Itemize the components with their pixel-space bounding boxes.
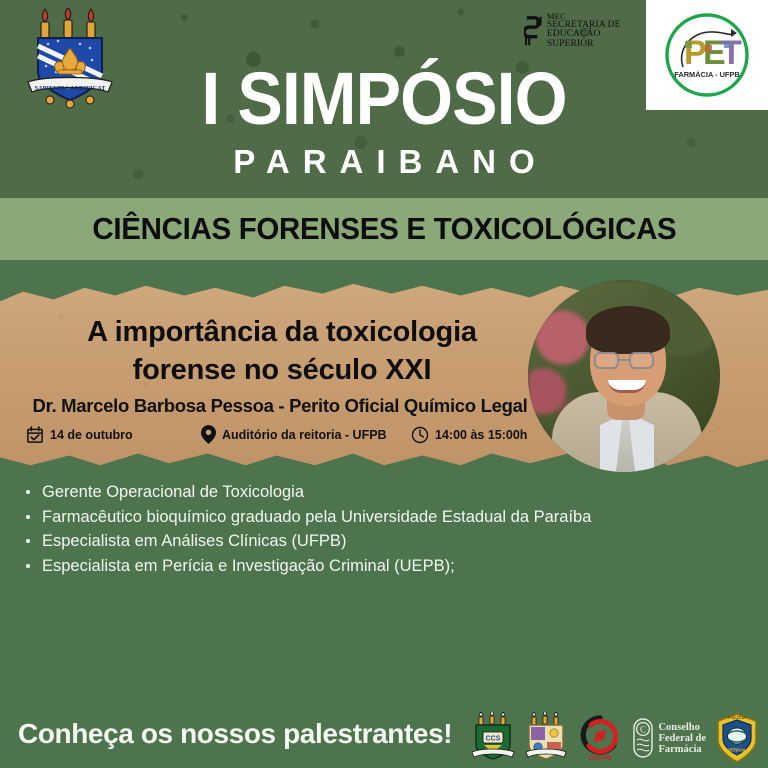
cff-line-2: Federal de — [658, 733, 706, 744]
ccs-label: CCS — [486, 735, 501, 742]
speaker-hair — [586, 306, 670, 354]
event-poster: SAPIENTIA AEDIFICAT MEC SECRETARIA DE ED… — [0, 0, 768, 768]
speaker-photo — [528, 280, 720, 472]
speaker-glasses-left — [594, 352, 619, 369]
event-meta-row: 14 de outubro Auditório da reitoria - UF… — [26, 425, 566, 444]
ufpb-shield-icon — [524, 712, 568, 764]
footer-logo-strip: CCS — [470, 712, 760, 764]
list-item: Especialista em Perícia e Investigação C… — [18, 554, 718, 579]
crf-pb-logo-icon: CRF-PB — [576, 712, 624, 764]
event-date-label: 14 de outubro — [50, 428, 133, 442]
event-place-label: Auditório da reitoria - UFPB — [222, 428, 387, 442]
speaker-name: Dr. Marcelo Barbosa Pessoa - Perito Ofic… — [10, 395, 550, 417]
cff-emblem-icon: C — [632, 716, 654, 760]
cff-logo: C Conselho Federal de Farmácia — [632, 716, 706, 760]
theme-band: CIÊNCIAS FORENSES E TOXICOLÓGICAS — [0, 198, 768, 260]
svg-text:C: C — [640, 724, 646, 734]
mec-logo: MEC SECRETARIA DE EDUCAÇÃO SUPERIOR — [524, 12, 644, 54]
talk-title-line-2: forense no século XXI — [133, 354, 432, 386]
map-pin-icon — [201, 425, 216, 444]
badge-label: PERÍCIA — [728, 748, 747, 753]
event-time-label: 14:00 às 15:00h — [435, 428, 527, 442]
event-place: Auditório da reitoria - UFPB — [201, 425, 411, 444]
cff-line-3: Farmácia — [658, 744, 706, 755]
cff-line-1: Conselho — [658, 722, 706, 733]
speaker-glasses-right — [629, 352, 654, 369]
policia-cientifica-badge-icon: POLÍCIA PERÍCIA — [714, 712, 760, 764]
svg-text:POLÍCIA: POLÍCIA — [728, 713, 747, 720]
page-title-main: I SIMPÓSIO — [31, 62, 738, 136]
speaker-credentials-list: Gerente Operacional de Toxicologia Farma… — [18, 480, 718, 578]
mec-symbol-icon — [524, 14, 543, 48]
calendar-check-icon — [26, 426, 44, 444]
list-item: Especialista em Análises Clínicas (UFPB) — [18, 529, 718, 554]
talk-title-line-1: A importância da toxicologia — [87, 316, 477, 348]
footer-call-to-action: Conheça os nossos palestrantes! — [18, 718, 452, 750]
list-item: Farmacêutico bioquímico graduado pela Un… — [18, 505, 718, 530]
ccs-ufpb-shield-icon: CCS — [470, 712, 516, 764]
mec-line-3: EDUCAÇÃO SUPERIOR — [547, 30, 644, 49]
theme-band-text: CIÊNCIAS FORENSES E TOXICOLÓGICAS — [92, 211, 676, 247]
list-item: Gerente Operacional de Toxicologia — [18, 480, 718, 505]
event-date: 14 de outubro — [26, 426, 201, 444]
page-title-sub: PARAIBANO — [0, 145, 768, 179]
clock-icon — [411, 426, 429, 444]
crf-label: CRF-PB — [589, 756, 612, 762]
speaker-glasses-bridge — [619, 359, 629, 361]
talk-title: A importância da toxicologia forense no … — [18, 313, 546, 389]
